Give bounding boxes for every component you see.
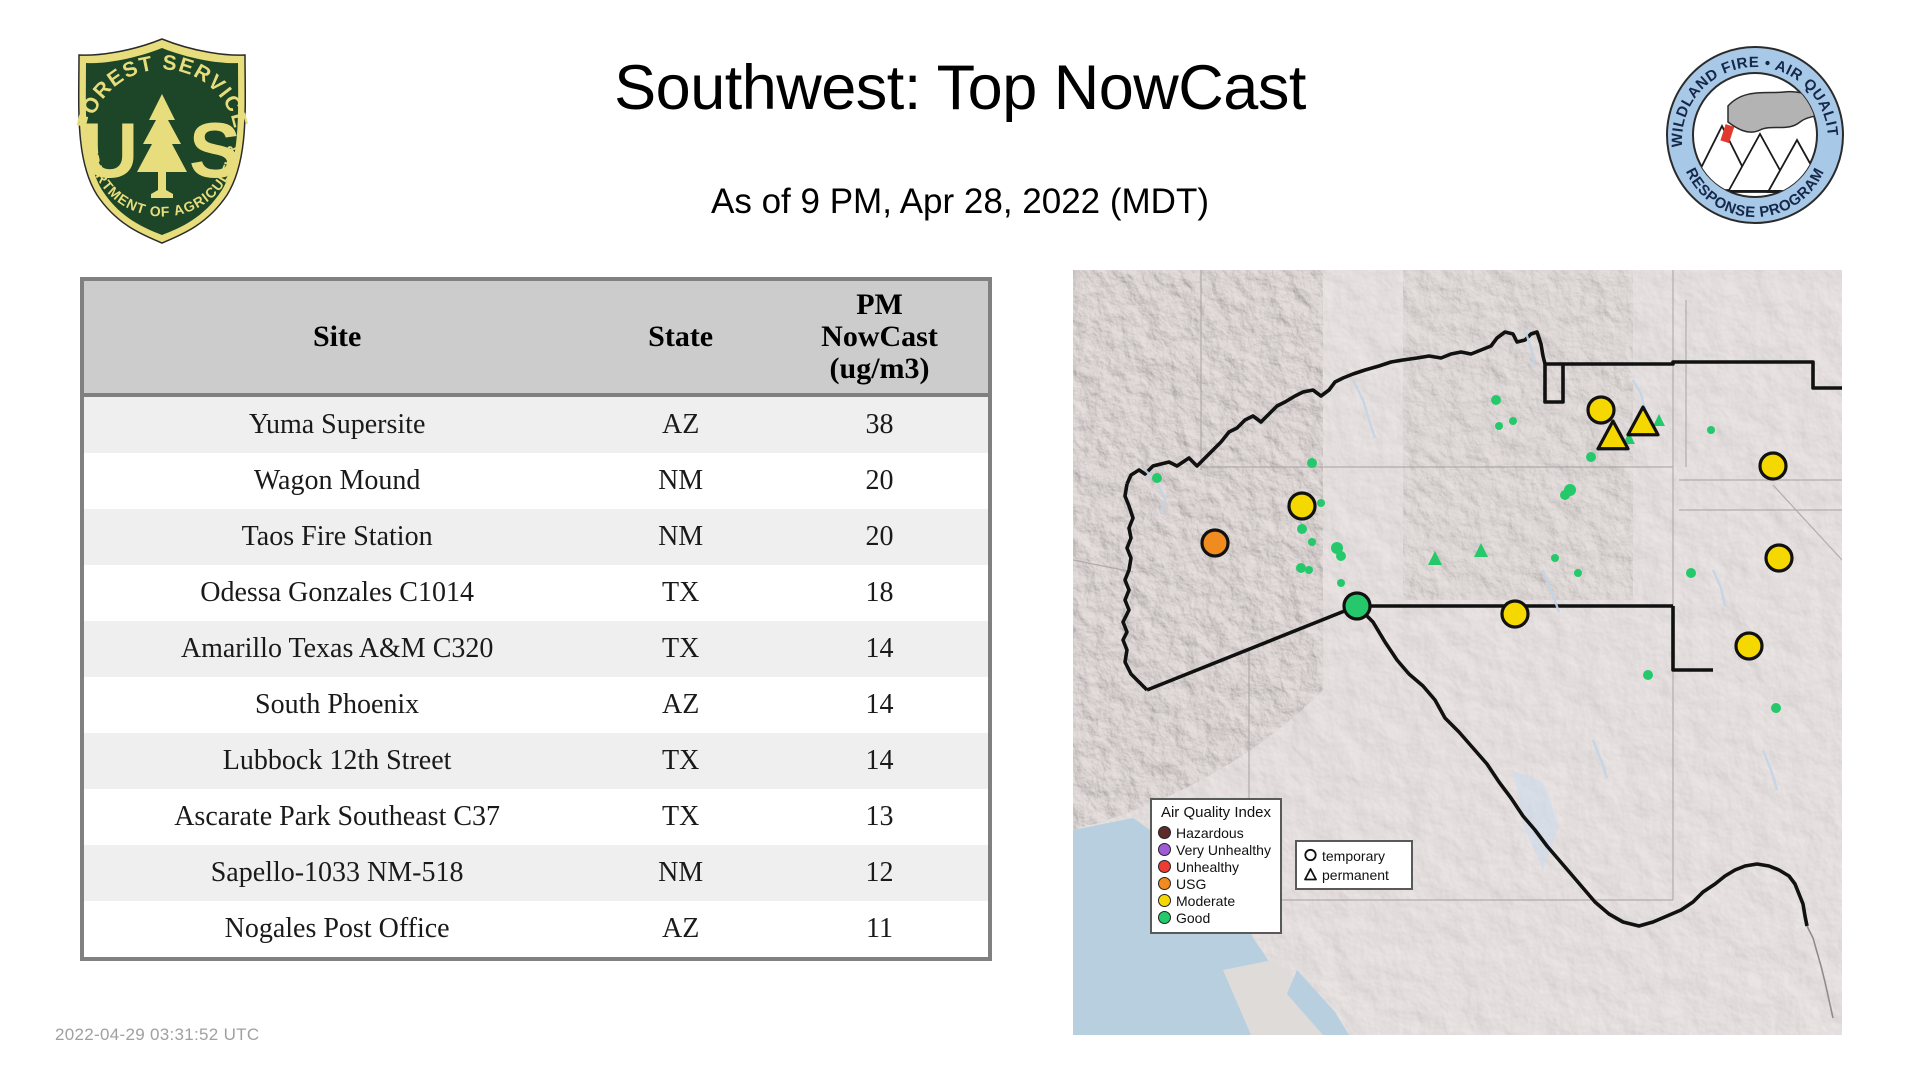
map-good-point	[1551, 554, 1559, 562]
aqi-legend-swatch-icon	[1158, 843, 1171, 856]
table-row: South PhoenixAZ14	[84, 677, 988, 733]
aqi-legend-label: USG	[1176, 877, 1206, 891]
state-cell: TX	[590, 789, 771, 845]
site-cell: Ascarate Park Southeast C37	[84, 789, 590, 845]
usfs-letter-s: S	[189, 106, 241, 194]
pm-header-line-2: NowCast	[775, 321, 984, 353]
aqi-legend-row: Good	[1158, 909, 1274, 926]
table-row: Odessa Gonzales C1014TX18	[84, 565, 988, 621]
site-cell: Amarillo Texas A&M C320	[84, 621, 590, 677]
aqi-legend-row: Very Unhealthy	[1158, 841, 1274, 858]
pm-cell: 13	[771, 789, 988, 845]
legend-row-permanent: permanent	[1302, 865, 1406, 884]
map-good-point	[1317, 499, 1325, 507]
aqi-legend-label: Good	[1176, 911, 1210, 925]
state-cell: NM	[590, 845, 771, 901]
marker-type-legend: temporary permanent	[1295, 840, 1413, 890]
site-cell: Nogales Post Office	[84, 901, 590, 957]
column-header-site: Site	[84, 281, 590, 395]
state-cell: AZ	[590, 901, 771, 957]
map-monitor-marker-yuma-supersite[interactable]	[1202, 530, 1228, 556]
circle-outline-icon	[1302, 848, 1318, 864]
state-cell: AZ	[590, 395, 771, 453]
aqi-legend-row: Moderate	[1158, 892, 1274, 909]
table-row: Wagon MoundNM20	[84, 453, 988, 509]
table-row: Taos Fire StationNM20	[84, 509, 988, 565]
aqi-legend-label: Hazardous	[1176, 826, 1244, 840]
pm-cell: 38	[771, 395, 988, 453]
map-good-point	[1771, 703, 1781, 713]
aqi-legend-swatch-icon	[1158, 877, 1171, 890]
table-row: Ascarate Park Southeast C37TX13	[84, 789, 988, 845]
usfs-shield-logo: FOREST SERVICE DEPARTMENT OF AGRICULTURE…	[55, 32, 270, 247]
site-cell: South Phoenix	[84, 677, 590, 733]
pm-cell: 18	[771, 565, 988, 621]
map-good-point	[1586, 452, 1596, 462]
site-cell: Lubbock 12th Street	[84, 733, 590, 789]
page-subtitle: As of 9 PM, Apr 28, 2022 (MDT)	[300, 182, 1620, 222]
map-good-point	[1509, 417, 1517, 425]
map-good-point	[1307, 458, 1317, 468]
site-cell: Odessa Gonzales C1014	[84, 565, 590, 621]
pm-cell: 14	[771, 677, 988, 733]
state-cell: NM	[590, 453, 771, 509]
pm-cell: 20	[771, 453, 988, 509]
page-title: Southwest: Top NowCast	[300, 52, 1620, 124]
site-cell: Taos Fire Station	[84, 509, 590, 565]
map-good-point	[1643, 670, 1653, 680]
footer-timestamp: 2022-04-29 03:31:52 UTC	[55, 1025, 259, 1045]
state-cell: TX	[590, 565, 771, 621]
map-good-point	[1152, 473, 1162, 483]
aqi-legend-label: Unhealthy	[1176, 860, 1239, 874]
wildland-fire-air-quality-response-program-logo: WILDLAND FIRE • AIR QUALITY RESPONSE PRO…	[1660, 40, 1850, 230]
aqi-legend-swatch-icon	[1158, 894, 1171, 907]
aqi-legend-swatch-icon	[1158, 826, 1171, 839]
legend-label-temporary: temporary	[1322, 849, 1385, 863]
table-header-row: Site State PM NowCast (ug/m3)	[84, 281, 988, 395]
legend-label-permanent: permanent	[1322, 868, 1389, 882]
pm-cell: 20	[771, 509, 988, 565]
aqi-legend-swatch-icon	[1158, 860, 1171, 873]
triangle-outline-icon	[1302, 867, 1318, 883]
pm-cell: 12	[771, 845, 988, 901]
table-row: Nogales Post OfficeAZ11	[84, 901, 988, 957]
pm-header-line-1: PM	[775, 289, 984, 321]
map-good-point	[1308, 538, 1316, 546]
southwest-aqi-map[interactable]: Air Quality Index HazardousVery Unhealth…	[1073, 270, 1842, 1035]
site-cell: Yuma Supersite	[84, 395, 590, 453]
map-good-point	[1574, 569, 1582, 577]
map-good-point	[1297, 524, 1307, 534]
aqi-legend: Air Quality Index HazardousVery Unhealth…	[1150, 798, 1282, 934]
map-monitor-marker-odessa-gonzales[interactable]	[1736, 633, 1762, 659]
table-row: Lubbock 12th StreetTX14	[84, 733, 988, 789]
state-cell: AZ	[590, 677, 771, 733]
map-monitor-marker-lubbock-12th-street[interactable]	[1766, 545, 1792, 571]
map-good-point	[1336, 551, 1346, 561]
map-good-point	[1337, 579, 1345, 587]
map-relief-mountains-central	[1403, 270, 1633, 600]
column-header-pm-nowcast: PM NowCast (ug/m3)	[771, 281, 988, 395]
aqi-legend-swatch-icon	[1158, 911, 1171, 924]
aqi-legend-label: Moderate	[1176, 894, 1235, 908]
top-nowcast-table: Site State PM NowCast (ug/m3) Yuma Super…	[80, 277, 992, 961]
aqi-legend-title: Air Quality Index	[1158, 804, 1274, 821]
map-monitor-marker-ascarate-park[interactable]	[1502, 601, 1528, 627]
map-good-point	[1707, 426, 1715, 434]
aqi-legend-label: Very Unhealthy	[1176, 843, 1271, 857]
usfs-letter-u: U	[82, 106, 138, 194]
map-monitor-marker-amarillo-a-and-m[interactable]	[1760, 453, 1786, 479]
table-row: Amarillo Texas A&M C320TX14	[84, 621, 988, 677]
map-good-point	[1495, 422, 1503, 430]
map-good-point	[1686, 568, 1696, 578]
map-monitor-marker-nogales-post-office[interactable]	[1344, 593, 1370, 619]
map-monitor-marker-taos-fire-station[interactable]	[1588, 397, 1614, 423]
site-cell: Wagon Mound	[84, 453, 590, 509]
state-cell: NM	[590, 509, 771, 565]
table-row: Yuma SupersiteAZ38	[84, 395, 988, 453]
pm-header-line-3: (ug/m3)	[775, 353, 984, 385]
map-monitor-marker-south-phoenix[interactable]	[1289, 493, 1315, 519]
map-good-point	[1560, 490, 1570, 500]
map-good-point	[1305, 566, 1313, 574]
map-good-point	[1491, 395, 1501, 405]
aqi-legend-row: USG	[1158, 875, 1274, 892]
state-cell: TX	[590, 621, 771, 677]
pm-cell: 14	[771, 621, 988, 677]
map-good-point	[1296, 563, 1306, 573]
pm-cell: 11	[771, 901, 988, 957]
aqi-legend-row: Hazardous	[1158, 824, 1274, 841]
column-header-state: State	[590, 281, 771, 395]
table-row: Sapello-1033 NM-518NM12	[84, 845, 988, 901]
state-cell: TX	[590, 733, 771, 789]
aqi-legend-row: Unhealthy	[1158, 858, 1274, 875]
legend-row-temporary: temporary	[1302, 846, 1406, 865]
site-cell: Sapello-1033 NM-518	[84, 845, 590, 901]
pm-cell: 14	[771, 733, 988, 789]
